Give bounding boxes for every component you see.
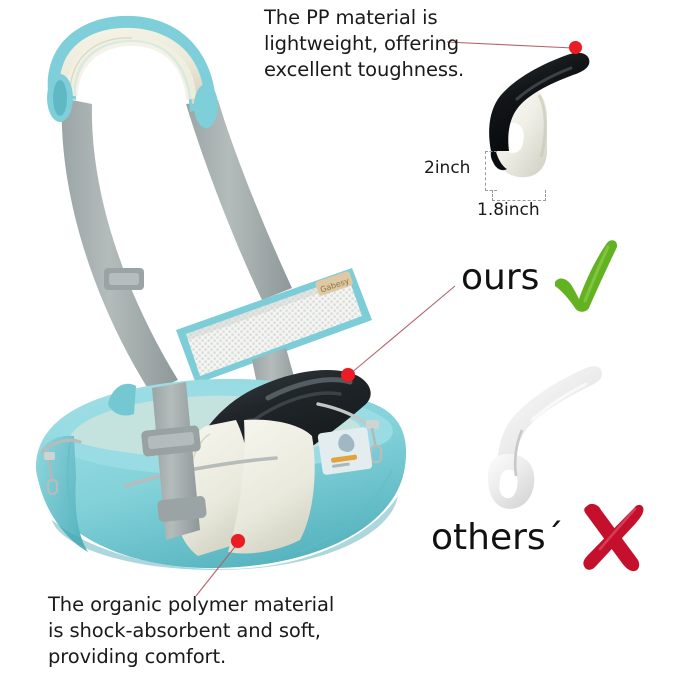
dimension-label-width: 1.8inch: [477, 200, 540, 220]
comparison-label-ours: ours: [461, 258, 539, 298]
comparison-label-others: others´: [431, 518, 564, 558]
check-mark-icon: [549, 238, 621, 312]
product-illustration: Gabesy: [0, 0, 430, 600]
infographic-canvas: Gabesy: [0, 0, 679, 679]
strap-cap-left-inner: [53, 80, 67, 116]
callout-text-organic-polymer: The organic polymer material is shock-ab…: [48, 592, 408, 670]
check-mark-highlight: [585, 247, 608, 301]
others-clip-illustration: [462, 360, 622, 525]
pointer-dot-ours-clip: [341, 368, 355, 382]
shoulder-strap-webbing-right: [186, 100, 292, 300]
dimension-label-height: 2inch: [424, 158, 470, 178]
pointer-dot-pp-material: [569, 41, 582, 54]
dimension-bracket-vertical: [485, 151, 497, 191]
shoulder-strap-webbing-left: [62, 98, 178, 392]
pointer-dot-polymer: [231, 534, 245, 548]
callout-text-pp-material: The PP material is lightweight, offering…: [264, 5, 514, 83]
strap-cap-right: [194, 84, 218, 128]
strap-adjuster-upper-slot: [109, 273, 139, 285]
product-logo-label: [317, 427, 372, 476]
cross-mark-icon: [578, 502, 646, 572]
